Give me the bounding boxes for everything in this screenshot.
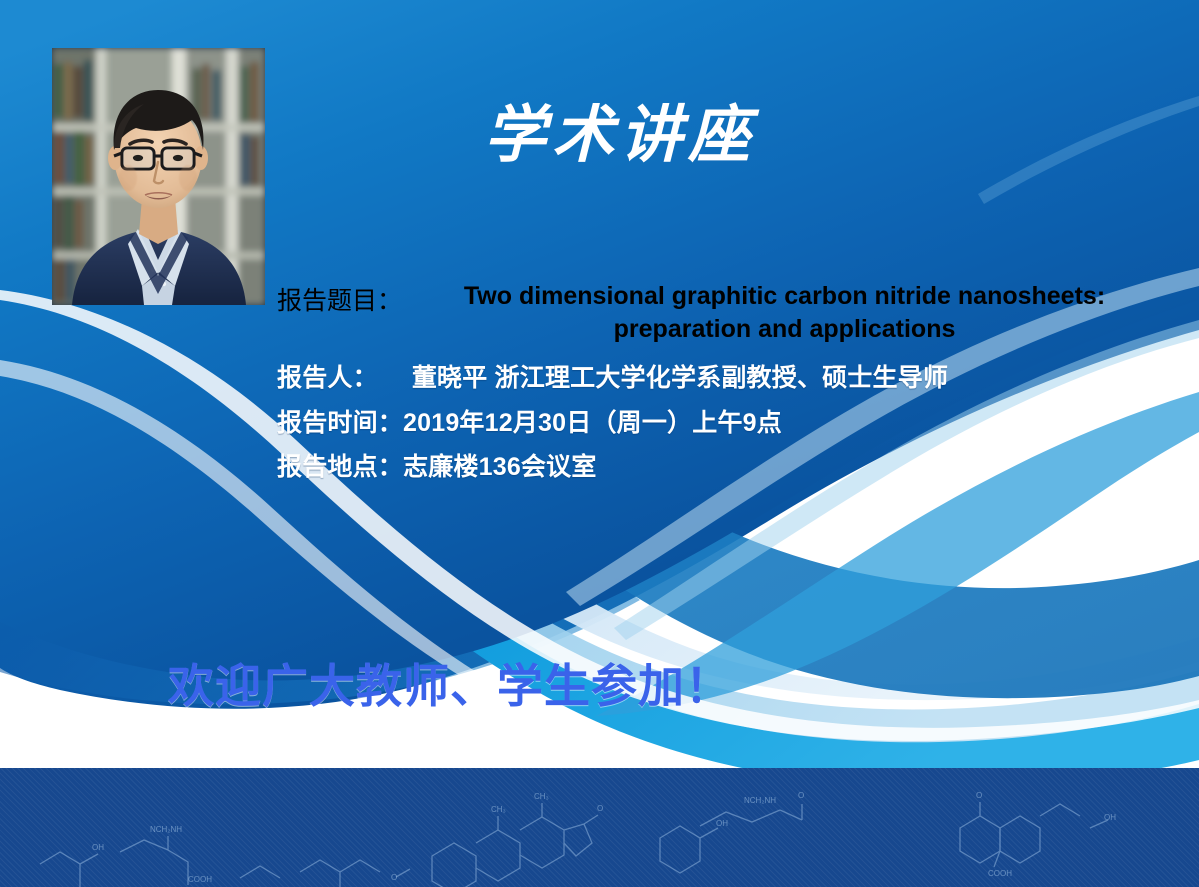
topic-line-1: Two dimensional graphitic carbon nitride… bbox=[464, 282, 1105, 310]
calligraphy-title-icon: 学术讲座 bbox=[455, 78, 785, 188]
molecule-label-o-3: O bbox=[798, 791, 804, 800]
bottom-molecule-band: CH₃ CH₃ O O OH NCH₂NH O O COOH OH OH NCH… bbox=[0, 768, 1199, 887]
molecule-label-o-4: O bbox=[976, 791, 982, 800]
speaker-label: 报告人： bbox=[277, 363, 378, 394]
page-title: 学术讲座 bbox=[455, 78, 785, 188]
molecule-label-o: O bbox=[597, 804, 603, 813]
molecule-label-ch3: CH₃ bbox=[491, 805, 506, 814]
welcome-slogan: 欢迎广大教师、学生参加！ bbox=[168, 650, 732, 716]
molecule-label-oh: OH bbox=[716, 819, 728, 828]
topic-value: Two dimensional graphitic carbon nitride… bbox=[402, 280, 1167, 345]
seminar-poster: 学术讲座 报告题目： Two dimensional graphitic car… bbox=[0, 0, 1199, 887]
topic-label: 报告题目： bbox=[277, 280, 402, 317]
molecule-label-oh-2: OH bbox=[1104, 813, 1116, 822]
title-text: 学术讲座 bbox=[484, 98, 760, 171]
place-value: 志廉楼136会议室 bbox=[403, 452, 597, 483]
molecule-label-oh-3: OH bbox=[92, 843, 104, 852]
topic-line-2: preparation and applications bbox=[614, 315, 956, 343]
speaker-photo bbox=[52, 48, 265, 305]
time-value: 2019年12月30日（周一）上午9点 bbox=[403, 408, 782, 439]
molecule-label-cooh: COOH bbox=[988, 869, 1012, 878]
molecule-label-nch2nh: NCH₂NH bbox=[744, 796, 776, 805]
speaker-value: 董晓平 浙江理工大学化学系副教授、硕士生导师 bbox=[412, 363, 948, 394]
molecule-label-cooh-2: COOH bbox=[188, 875, 212, 884]
place-label: 报告地点： bbox=[277, 452, 403, 483]
time-label: 报告时间： bbox=[277, 408, 403, 439]
molecule-label-nch2nh-2: NCH₂NH bbox=[150, 825, 182, 834]
seminar-details: 报告题目： Two dimensional graphitic carbon n… bbox=[277, 280, 1167, 497]
molecular-structure-pattern: CH₃ CH₃ O O OH NCH₂NH O O COOH OH OH NCH… bbox=[0, 768, 1199, 887]
detail-row-speaker: 报告人： 董晓平 浙江理工大学化学系副教授、硕士生导师 bbox=[277, 363, 1167, 394]
portrait-illustration bbox=[52, 48, 265, 305]
detail-row-place: 报告地点： 志廉楼136会议室 bbox=[277, 452, 1167, 483]
molecule-label-ch3-2: CH₃ bbox=[534, 792, 549, 801]
detail-row-topic: 报告题目： Two dimensional graphitic carbon n… bbox=[277, 280, 1167, 345]
molecule-label-o-2: O bbox=[391, 873, 397, 882]
detail-row-time: 报告时间： 2019年12月30日（周一）上午9点 bbox=[277, 408, 1167, 439]
